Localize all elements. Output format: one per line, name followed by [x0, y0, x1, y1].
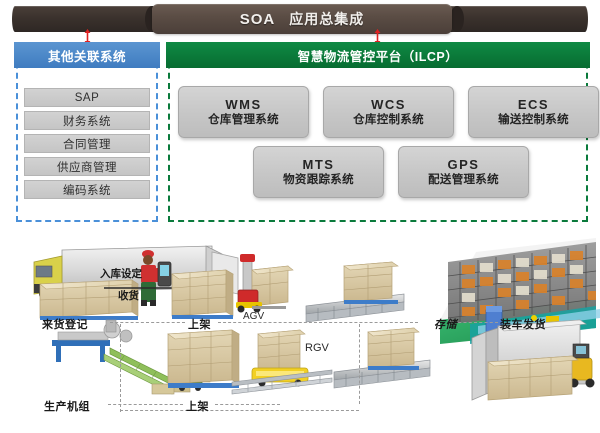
- soa-banner: SOA应用总集成: [12, 4, 588, 34]
- label-putaway-bottom: 上架: [186, 398, 209, 414]
- card-wcs[interactable]: WCS 仓库控制系统: [323, 86, 454, 138]
- label-goods-registration: 来货登记: [42, 316, 88, 332]
- flow-dash-production-to-putaway: [108, 404, 183, 405]
- card-wms-name: 仓库管理系统: [208, 113, 279, 128]
- banner-title: SOA: [240, 11, 276, 28]
- card-wms[interactable]: WMS 仓库管理系统: [178, 86, 309, 138]
- card-wms-code: WMS: [225, 97, 261, 113]
- card-gps-code: GPS: [448, 157, 480, 173]
- outgoing-truck-loading: [472, 320, 595, 400]
- card-gps[interactable]: GPS 配送管理系统: [398, 146, 529, 198]
- card-gps-name: 配送管理系统: [428, 173, 499, 188]
- banner-notch-right: [450, 6, 464, 32]
- sidebar-item-coding[interactable]: 编码系统: [24, 180, 150, 199]
- sidebar-item-contract[interactable]: 合同管理: [24, 134, 150, 153]
- diagram-root: SOA应用总集成 其他关联系统 SAP 财务系统 合同管理 供应商管理 编码系统…: [0, 0, 600, 433]
- label-production-line: 生产机组: [44, 398, 90, 414]
- label-loading-shipping: 装车发货: [500, 316, 546, 332]
- sidebar-item-sap[interactable]: SAP: [24, 88, 150, 107]
- label-agv: AGV: [243, 311, 264, 322]
- flow-dash-bottom-return: [120, 410, 359, 411]
- card-mts-code: MTS: [303, 157, 335, 173]
- pallet-stack-putaway-bottom: [168, 330, 239, 388]
- card-ecs-code: ECS: [518, 97, 549, 113]
- logistics-flow-illustration: 入库设定 收货 来货登记 上架 AGV 存储 装车发货 生产机组 上架 RGV: [0, 232, 600, 433]
- rgv-vehicle: [232, 330, 332, 394]
- label-inbound-setup: 入库设定: [100, 266, 142, 281]
- flow-dash-storage-to-shipping: [453, 322, 498, 323]
- conveyor-top: [306, 262, 404, 322]
- ilcp-card-row-1: WMS 仓库管理系统 WCS 仓库控制系统 ECS 输送控制系统: [178, 86, 599, 138]
- flow-dash-putaway-to-rgv: [215, 404, 280, 405]
- label-storage: 存储: [434, 316, 457, 332]
- card-ecs-name: 输送控制系统: [498, 113, 569, 128]
- label-rgv: RGV: [305, 342, 329, 354]
- banner-center: SOA应用总集成: [152, 4, 452, 34]
- illustration-artwork: [0, 232, 600, 433]
- ilcp-card-row-2: MTS 物资跟踪系统 GPS 配送管理系统: [253, 146, 529, 198]
- card-ecs[interactable]: ECS 输送控制系统: [468, 86, 599, 138]
- label-receiving: 收货: [118, 288, 139, 303]
- right-panel-header: 智慧物流管控平台（ILCP）: [166, 42, 590, 68]
- conveyor-bottom: [334, 328, 430, 388]
- sidebar-item-finance[interactable]: 财务系统: [24, 111, 150, 130]
- sidebar-item-supplier[interactable]: 供应商管理: [24, 157, 150, 176]
- left-panel-item-list: SAP 财务系统 合同管理 供应商管理 编码系统: [24, 88, 150, 203]
- flow-dash-vertical-left: [120, 324, 121, 412]
- pallet-stack-putaway-top: [172, 270, 233, 319]
- card-mts-name: 物资跟踪系统: [283, 173, 354, 188]
- flow-dash-register-to-putaway: [110, 322, 185, 323]
- left-panel-header: 其他关联系统: [14, 42, 160, 68]
- card-mts[interactable]: MTS 物资跟踪系统: [253, 146, 384, 198]
- agv-pallet-truck: [236, 254, 293, 313]
- card-wcs-name: 仓库控制系统: [353, 113, 424, 128]
- flow-dash-putaway-to-storage: [218, 322, 418, 323]
- card-wcs-code: WCS: [371, 97, 406, 113]
- label-putaway-top: 上架: [188, 316, 211, 332]
- flow-dash-vertical-mid: [359, 324, 360, 404]
- banner-title-group: SOA应用总集成: [240, 9, 365, 29]
- banner-subtitle: 应用总集成: [289, 11, 364, 27]
